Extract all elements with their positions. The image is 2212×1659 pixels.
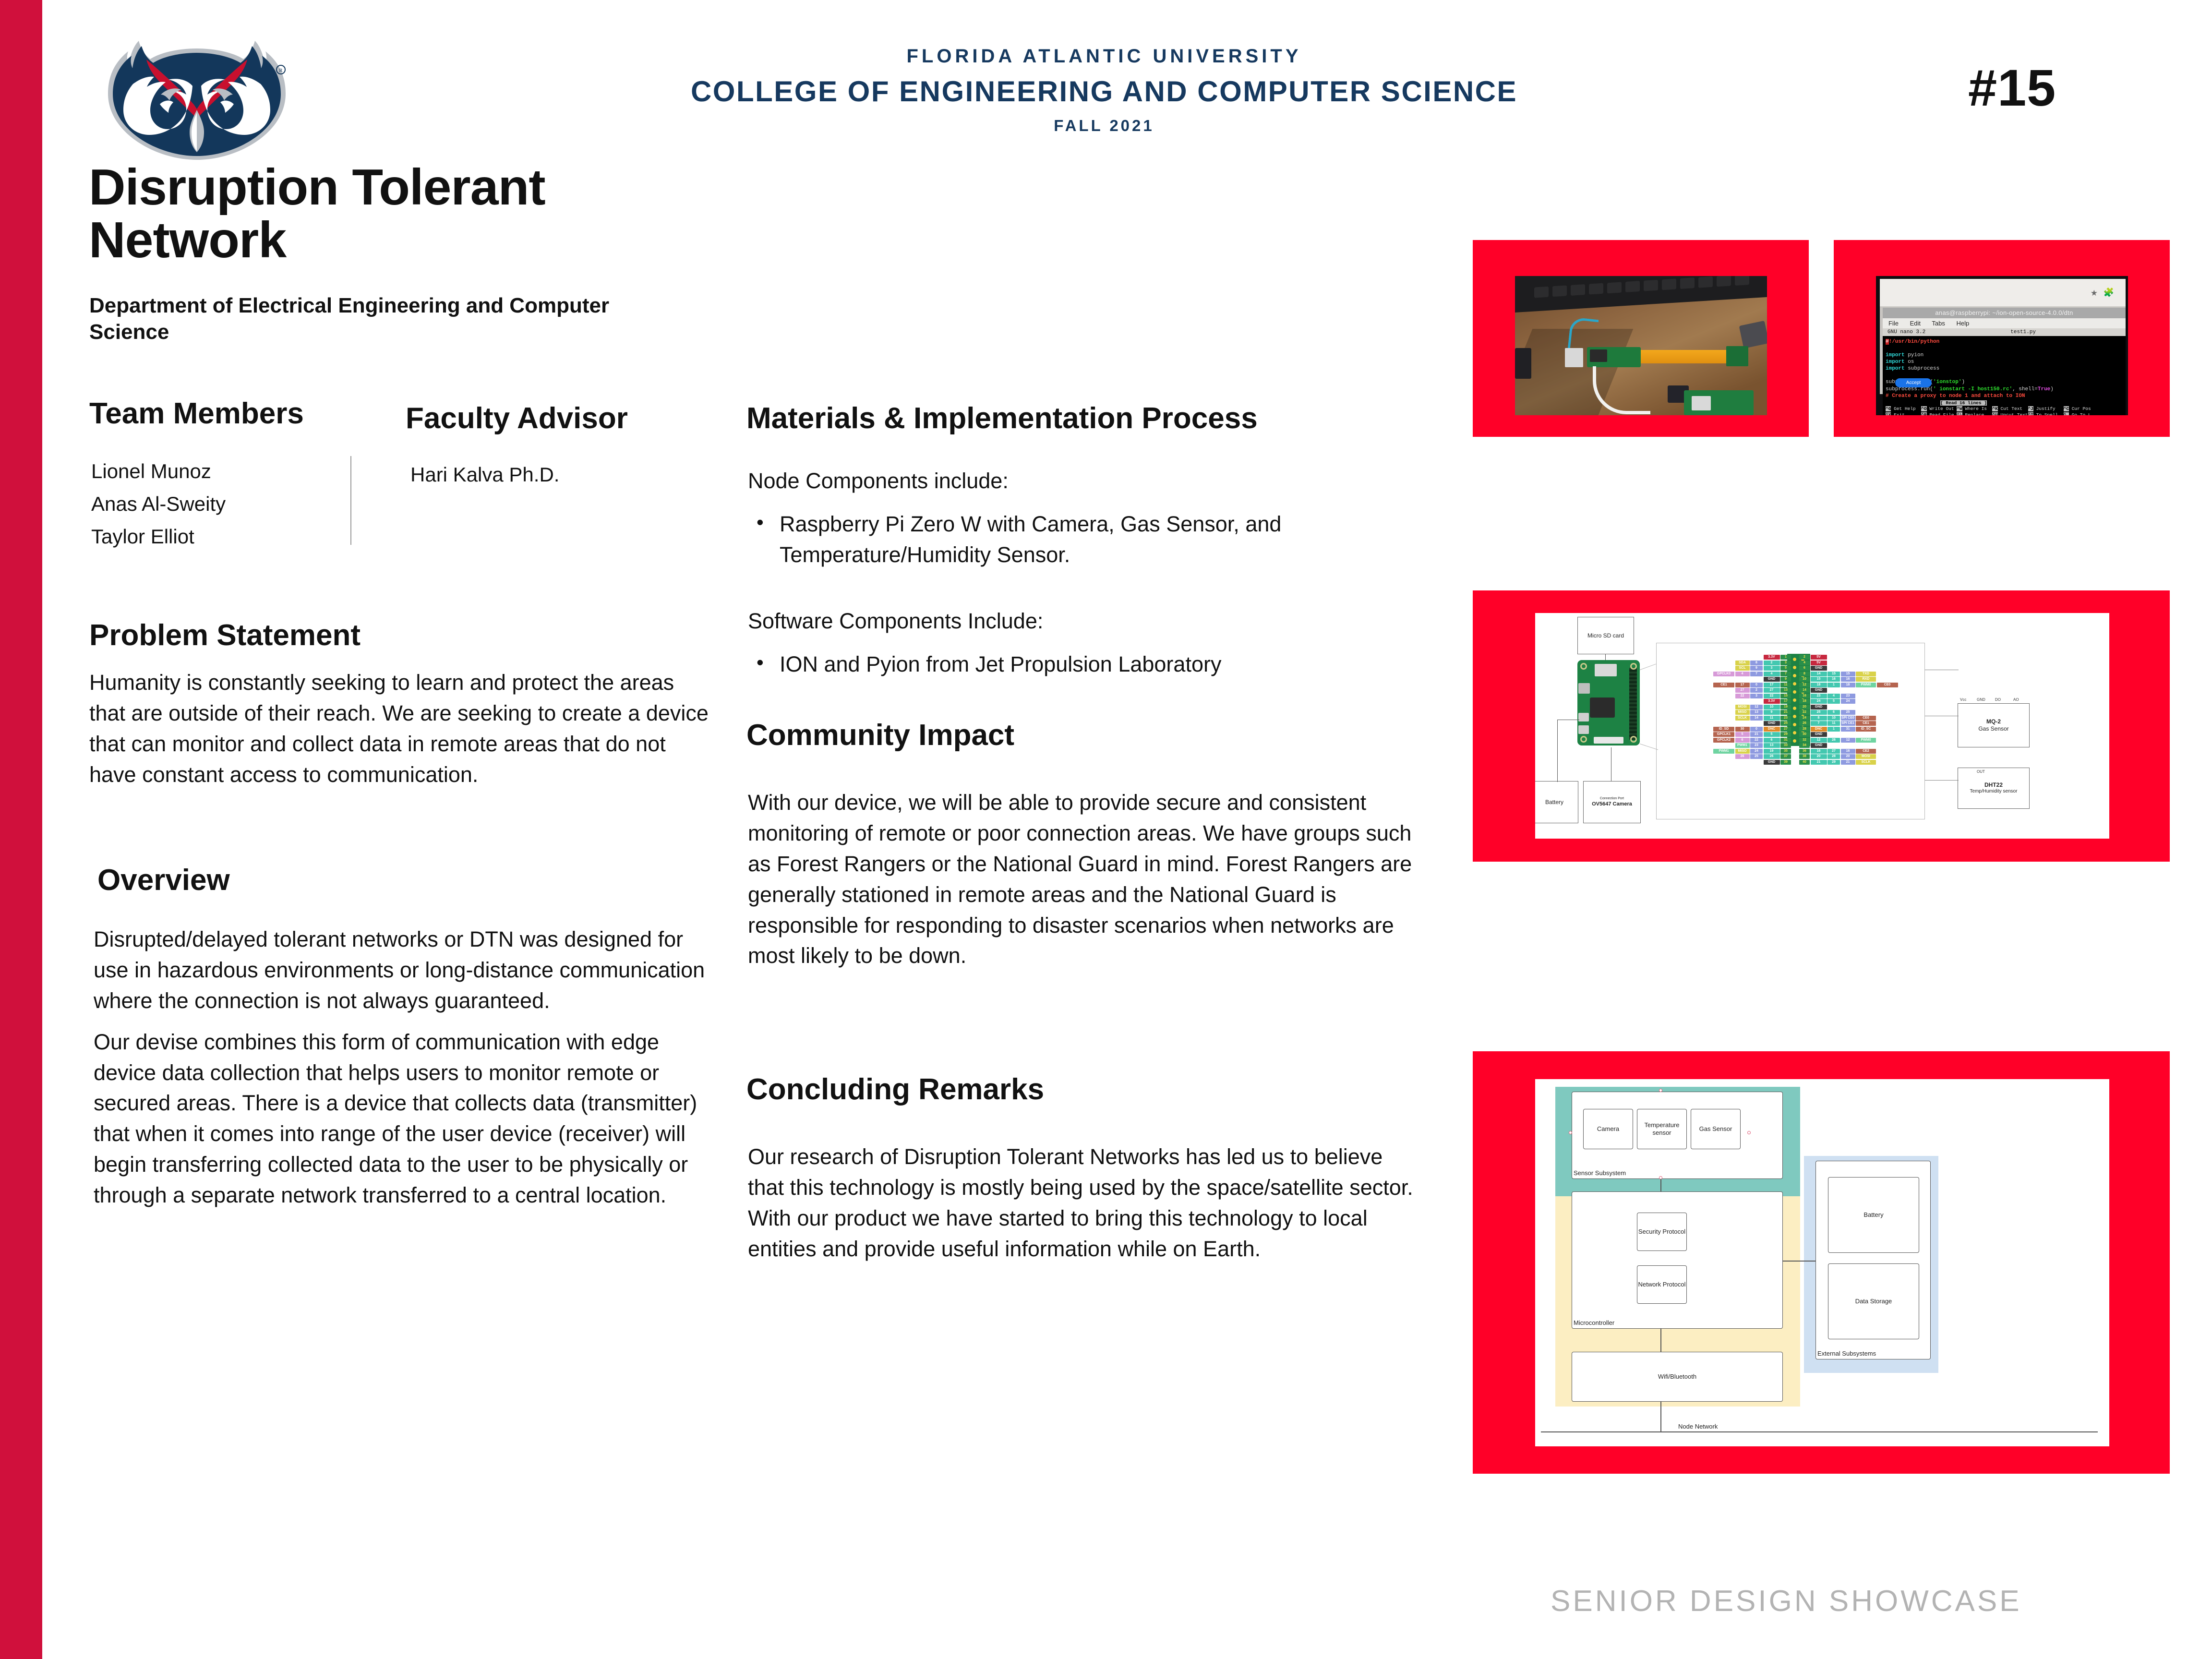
menu-item-file[interactable]: File xyxy=(1888,320,1899,327)
menu-item-tabs[interactable]: Tabs xyxy=(1932,320,1945,327)
node-network-line xyxy=(1541,1431,2098,1432)
system-block-diagram: Camera Temperature sensor Gas Sensor Sen… xyxy=(1535,1079,2109,1446)
fau-owl-logo: R xyxy=(89,22,305,163)
terminal-title: anas@raspberrypi: ~/ion-open-source-4.0.… xyxy=(1883,308,2126,318)
list-item: Taylor Elliot xyxy=(91,520,341,553)
port-dot-top xyxy=(1659,1089,1662,1092)
menu-item-help[interactable]: Help xyxy=(1956,320,1969,327)
software-components-list: • ION and Pyion from Jet Propulsion Labo… xyxy=(753,649,1420,680)
security-protocol-block: Security Protocol xyxy=(1637,1213,1687,1251)
team-advisor-divider xyxy=(350,456,351,545)
nano-status-bar: GNU nano 3.2 test1.py xyxy=(1883,328,2126,336)
nano-version: GNU nano 3.2 xyxy=(1887,328,1925,336)
temperature-sensor-block: Temperature sensor xyxy=(1637,1109,1687,1149)
overview-paragraph-1: Disrupted/delayed tolerant networks or D… xyxy=(94,924,718,1016)
camera-connection-port: Connection Port xyxy=(1600,797,1624,801)
concluding-remarks-heading: Concluding Remarks xyxy=(746,1073,1044,1106)
micro-sd-card-box: Micro SD card xyxy=(1577,617,1634,654)
node-network-label: Node Network xyxy=(1678,1423,1718,1430)
nano-editor-screenshot: ★ 🧩 anas@raspberrypi: ~/ion-open-source-… xyxy=(1876,276,2128,415)
materials-body: Node Components include: • Raspberry Pi … xyxy=(748,466,1420,684)
sensor-subsystem-label: Sensor Subsystem xyxy=(1574,1169,1626,1177)
overview-body: Disrupted/delayed tolerant networks or D… xyxy=(94,924,718,1211)
node-components-lead: Node Components include: xyxy=(748,466,1420,496)
sd-slot xyxy=(1595,664,1617,676)
bullet-glyph: • xyxy=(757,648,764,677)
gas-sensor-block: Gas Sensor xyxy=(1691,1109,1741,1149)
gas-wire-2 xyxy=(1925,716,1959,716)
spacer xyxy=(748,575,1420,606)
port-dot-right xyxy=(1747,1131,1751,1134)
battery-box: Battery xyxy=(1535,781,1578,823)
black-connector xyxy=(1515,348,1531,379)
network-protocol-block: Network Protocol xyxy=(1637,1265,1687,1304)
hdmi-port xyxy=(1578,683,1590,694)
raspberry-pi-zero-board xyxy=(1587,347,1641,367)
arrow-radio-to-network xyxy=(1660,1402,1661,1431)
bullet-glyph: • xyxy=(757,508,764,537)
raspberry-pi-hardware-photo xyxy=(1515,276,1767,415)
faculty-advisor-heading: Faculty Advisor xyxy=(406,402,628,435)
gas-sensor-name: MQ-2 xyxy=(1986,718,2001,725)
camera-wire xyxy=(1611,747,1611,781)
dht-sub: Temp/Humidity sensor xyxy=(1970,789,2018,795)
sensor-module xyxy=(1565,348,1583,367)
title-line-1: Disruption Tolerant xyxy=(89,161,713,214)
gpio-wiring-diagram: Micro SD card xyxy=(1535,613,2109,839)
left-accent-stripe xyxy=(0,0,42,1659)
gas-sensor-sub: Gas Sensor xyxy=(1978,725,2008,733)
camera-connector xyxy=(1594,737,1623,744)
list-item: Anas Al-Sweity xyxy=(91,488,341,520)
gas-wire-1 xyxy=(1925,670,1959,670)
camera-module xyxy=(1726,346,1748,366)
arrow-mcu-to-external xyxy=(1783,1261,1815,1262)
camera-ribbon-cable xyxy=(1641,350,1726,363)
dht-pin-out: OUT xyxy=(1977,769,1985,774)
battery-block: Battery xyxy=(1828,1177,1919,1253)
camera-block: Camera xyxy=(1583,1109,1633,1149)
raspberry-pi-zero-illustration xyxy=(1577,660,1640,745)
terminal-menubar: File Edit Tabs Help xyxy=(1883,318,2126,328)
battery-wire xyxy=(1557,720,1558,782)
dht-name: DHT22 xyxy=(1984,781,2003,789)
block-diagram-panel: Camera Temperature sensor Gas Sensor Sen… xyxy=(1473,1051,2170,1474)
node-components-list: • Raspberry Pi Zero W with Camera, Gas S… xyxy=(753,509,1420,570)
hardware-photo-panel xyxy=(1473,240,1809,437)
page-title: Disruption Tolerant Network xyxy=(89,161,713,266)
mq2-gas-sensor-box: MQ-2 Gas Sensor xyxy=(1958,703,2030,747)
laptop-screen: ★ 🧩 anas@raspberrypi: ~/ion-open-source-… xyxy=(1880,279,2126,394)
camera-model: OV5647 Camera xyxy=(1592,801,1632,808)
problem-statement-body: Humanity is constantly seeking to learn … xyxy=(89,667,709,790)
list-item: Lionel Munoz xyxy=(91,455,341,488)
college-name: COLLEGE OF ENGINEERING AND COMPUTER SCIE… xyxy=(624,75,1584,108)
accept-button[interactable]: Accept xyxy=(1895,378,1932,387)
term-label: FALL 2021 xyxy=(624,117,1584,135)
team-members-heading: Team Members xyxy=(89,397,304,430)
terminal-screenshot-panel: ★ 🧩 anas@raspberrypi: ~/ion-open-source-… xyxy=(1834,240,2170,437)
gas-pin-ao: AO xyxy=(2013,697,2019,702)
wifi-bluetooth-block: Wifi/Bluetooth xyxy=(1572,1352,1783,1402)
university-name: FLORIDA ATLANTIC UNIVERSITY xyxy=(624,46,1584,67)
svg-text:R: R xyxy=(279,68,283,73)
nano-shortcut-bar: [ Read 16 lines ] ^G Get Help ^O Write O… xyxy=(1883,399,2126,415)
list-item: • ION and Pyion from Jet Propulsion Labo… xyxy=(753,649,1420,680)
arrow-sensor-to-mcu xyxy=(1660,1179,1661,1191)
terminal-window: anas@raspberrypi: ~/ion-open-source-4.0.… xyxy=(1883,308,2126,374)
list-item-label: ION and Pyion from Jet Propulsion Labora… xyxy=(780,652,1221,676)
poster-number: #15 xyxy=(1968,58,2056,118)
port-dot-left xyxy=(1569,1131,1572,1134)
browser-chrome: ★ 🧩 xyxy=(1880,279,2126,307)
gpio-pinout-callout: 3.3V125V SDA82345V SCL9356GND GPCLK04747… xyxy=(1656,643,1925,819)
list-item: • Raspberry Pi Zero W with Camera, Gas S… xyxy=(753,509,1420,570)
gas-pin-vcc: Vcc xyxy=(1960,697,1966,702)
wiring-diagram-panel: Micro SD card xyxy=(1473,590,2170,862)
raspberry-pi-board-secondary xyxy=(1684,390,1754,415)
gas-pin-do: DO xyxy=(1995,697,2001,702)
nano-filename: test1.py xyxy=(2010,328,2036,336)
code-editor-area: #!/usr/bin/python import pyion import os… xyxy=(1883,336,2126,399)
list-item: Hari Kalva Ph.D. xyxy=(410,458,660,491)
software-components-lead: Software Components Include: xyxy=(748,606,1420,637)
community-impact-body: With our device, we will be able to prov… xyxy=(748,787,1422,971)
microcontroller-label: Microcontroller xyxy=(1574,1319,1614,1326)
metal-object xyxy=(1739,321,1767,349)
materials-heading: Materials & Implementation Process xyxy=(746,402,1258,435)
title-line-2: Network xyxy=(89,214,713,266)
keyboard-icon xyxy=(1515,276,1767,313)
gas-pin-gnd: GND xyxy=(1977,697,1985,702)
list-item-label: Raspberry Pi Zero W with Camera, Gas Sen… xyxy=(780,512,1281,567)
overview-paragraph-2: Our devise combines this form of communi… xyxy=(94,1027,718,1211)
faculty-advisor-list: Hari Kalva Ph.D. xyxy=(410,458,660,491)
dht22-sensor-box: DHT22 Temp/Humidity sensor xyxy=(1958,768,2030,809)
concluding-remarks-body: Our research of Disruption Tolerant Netw… xyxy=(748,1142,1420,1264)
gpio-header xyxy=(1629,668,1637,740)
header-title-block: FLORIDA ATLANTIC UNIVERSITY COLLEGE OF E… xyxy=(624,46,1584,135)
gpio-pin-table: 3.3V125V SDA82345V SCL9356GND GPCLK04747… xyxy=(1713,655,1898,765)
external-subsystems-label: External Subsystems xyxy=(1817,1350,1876,1357)
microcontroller-outer-box xyxy=(1572,1191,1783,1329)
soc-chip xyxy=(1590,697,1615,718)
team-members-list: Lionel Munoz Anas Al-Sweity Taylor Ellio… xyxy=(91,455,341,553)
arrow-mcu-to-radio xyxy=(1660,1329,1661,1352)
overview-heading: Overview xyxy=(97,864,230,897)
department-label: Department of Electrical Engineering and… xyxy=(89,293,627,345)
callout-line-top xyxy=(1640,664,1656,670)
menu-item-edit[interactable]: Edit xyxy=(1910,320,1921,327)
camera-box: Connection Port OV5647 Camera xyxy=(1583,781,1641,823)
usb-port-2 xyxy=(1578,725,1589,734)
community-impact-heading: Community Impact xyxy=(746,719,1014,752)
problem-statement-heading: Problem Statement xyxy=(89,619,361,652)
usb-port-1 xyxy=(1578,713,1589,721)
data-storage-block: Data Storage xyxy=(1828,1263,1919,1339)
bookmark-star-icon: ★ xyxy=(2091,289,2098,298)
battery-wire-h xyxy=(1557,720,1579,720)
callout-line-bottom xyxy=(1640,744,1658,750)
dht-wire-1 xyxy=(1925,780,1959,781)
footer-text: SENIOR DESIGN SHOWCASE xyxy=(1551,1584,2022,1618)
extensions-puzzle-icon: 🧩 xyxy=(2104,288,2114,298)
